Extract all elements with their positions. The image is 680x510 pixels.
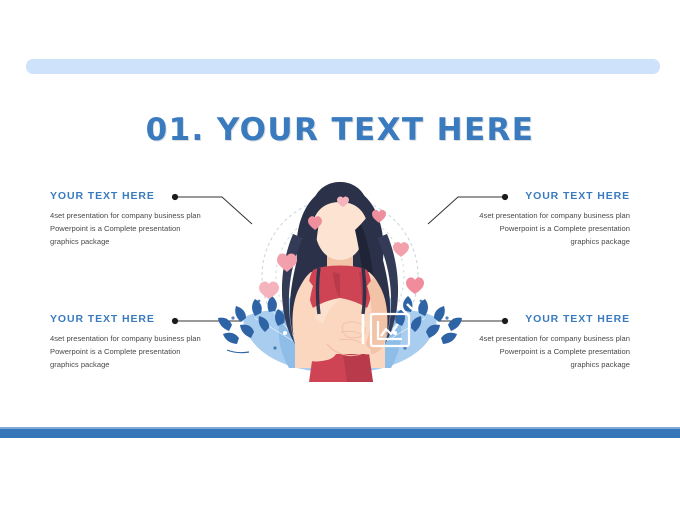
block-heading: YOUR TEXT HERE: [50, 313, 202, 325]
skirt-shadow: [343, 354, 373, 382]
block-body: 4set presentation for company business p…: [50, 209, 202, 248]
text-block-bottom-left: YOUR TEXT HERE 4set presentation for com…: [50, 313, 202, 371]
block-body: 4set presentation for company business p…: [478, 209, 630, 248]
text-block-top-left: YOUR TEXT HERE 4set presentation for com…: [50, 190, 202, 248]
page-title: 01. YOUR TEXT HERE: [0, 112, 680, 148]
block-body: 4set presentation for company business p…: [478, 332, 630, 371]
text-block-top-right: YOUR TEXT HERE 4set presentation for com…: [478, 190, 630, 248]
block-heading: YOUR TEXT HERE: [478, 190, 630, 202]
slide: 01. YOUR TEXT HERE: [0, 0, 680, 510]
pregnant-woman-illustration: [215, 168, 465, 393]
block-body: 4set presentation for company business p…: [50, 332, 202, 371]
text-block-bottom-right: YOUR TEXT HERE 4set presentation for com…: [478, 313, 630, 371]
bottom-decorative-bar: [0, 429, 680, 438]
top-decorative-bar: [26, 59, 660, 74]
block-heading: YOUR TEXT HERE: [50, 190, 202, 202]
block-heading: YOUR TEXT HERE: [478, 313, 630, 325]
